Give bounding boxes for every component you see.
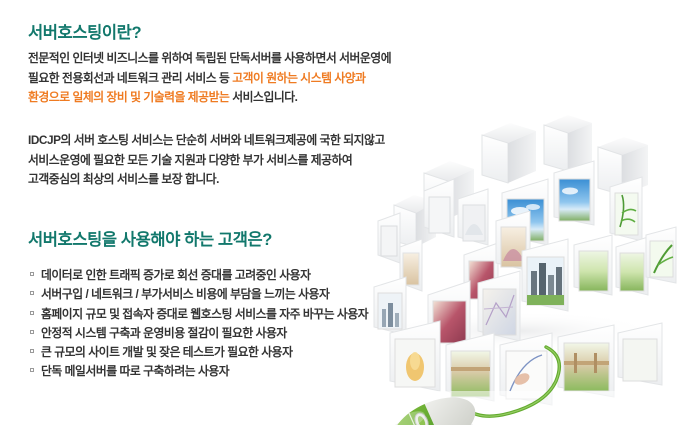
list-item-label: 큰 규모의 사이트 개발 및 잦은 테스트가 필요한 사용자 xyxy=(41,343,293,360)
cube-collage-illustration xyxy=(370,95,680,425)
target-customer-list: 데이터로 인한 트래픽 증가로 회선 증대를 고려중인 사용자 서버구입 / 네… xyxy=(30,266,368,382)
list-item-label: 홈페이지 규모 및 접속자 증대로 웹호스팅 서비스를 자주 바꾸는 사용자 xyxy=(41,305,368,322)
service-description-paragraph: IDCJP의 서버 호스팅 서비스는 단순히 서버와 네트워크제공에 국한 되지… xyxy=(28,131,385,190)
square-bullet-icon xyxy=(30,311,34,315)
accent-text-2: 환경으로 일체의 장비 및 기술력을 제공받는 xyxy=(28,90,229,104)
list-item: 단독 메일서버를 따로 구축하려는 사용자 xyxy=(30,362,368,381)
list-item: 서버구입 / 네트워크 / 부가서비스 비용에 부담을 느끼는 사용자 xyxy=(30,285,368,304)
square-bullet-icon xyxy=(30,272,34,276)
intro-line-1: 전문적인 인터넷 비즈니스를 위하여 독립된 단독서버를 사용하면서 서버운영에 xyxy=(28,49,391,69)
intro-line-2: 필요한 전용회선과 네트워크 관리 서비스 등 고객이 원하는 시스템 사양과 xyxy=(28,69,391,89)
section-title-target-customers: 서버호스팅을 사용해야 하는 고객은? xyxy=(28,226,272,250)
page-root: 서버호스팅이란? 전문적인 인터넷 비즈니스를 위하여 독립된 단독서버를 사용… xyxy=(0,0,680,425)
list-item: 큰 규모의 사이트 개발 및 잦은 테스트가 필요한 사용자 xyxy=(30,343,368,362)
desc-line-1: IDCJP의 서버 호스팅 서비스는 단순히 서버와 네트워크제공에 국한 되지… xyxy=(28,131,385,151)
list-item-label: 안정적 시스템 구축과 운영비용 절감이 필요한 사용자 xyxy=(41,324,287,341)
list-item: 데이터로 인한 트래픽 증가로 회선 증대를 고려중인 사용자 xyxy=(30,266,368,285)
square-bullet-icon xyxy=(30,330,34,334)
list-item: 안정적 시스템 구축과 운영비용 절감이 필요한 사용자 xyxy=(30,324,368,343)
accent-text-1: 고객이 원하는 시스템 사양과 xyxy=(232,71,365,85)
desc-line-2: 서비스운영에 필요한 모든 기술 지원과 다양한 부가 서비스를 제공하여 xyxy=(28,151,385,171)
list-item-label: 단독 메일서버를 따로 구축하려는 사용자 xyxy=(41,362,229,379)
intro-paragraph: 전문적인 인터넷 비즈니스를 위하여 독립된 단독서버를 사용하면서 서버운영에… xyxy=(28,49,391,108)
square-bullet-icon xyxy=(30,291,34,295)
list-item-label: 서버구입 / 네트워크 / 부가서비스 비용에 부담을 느끼는 사용자 xyxy=(41,285,329,302)
list-item-label: 데이터로 인한 트래픽 증가로 회선 증대를 고려중인 사용자 xyxy=(41,266,310,283)
desc-line-3: 고객중심의 최상의 서비스를 보장 합니다. xyxy=(28,170,385,190)
intro-line-3: 환경으로 일체의 장비 및 기술력을 제공받는 서비스입니다. xyxy=(28,88,391,108)
list-item: 홈페이지 규모 및 접속자 증대로 웹호스팅 서비스를 자주 바꾸는 사용자 xyxy=(30,305,368,324)
square-bullet-icon xyxy=(30,368,34,372)
page-title-what-is-server-hosting: 서버호스팅이란? xyxy=(28,19,141,43)
square-bullet-icon xyxy=(30,349,34,353)
